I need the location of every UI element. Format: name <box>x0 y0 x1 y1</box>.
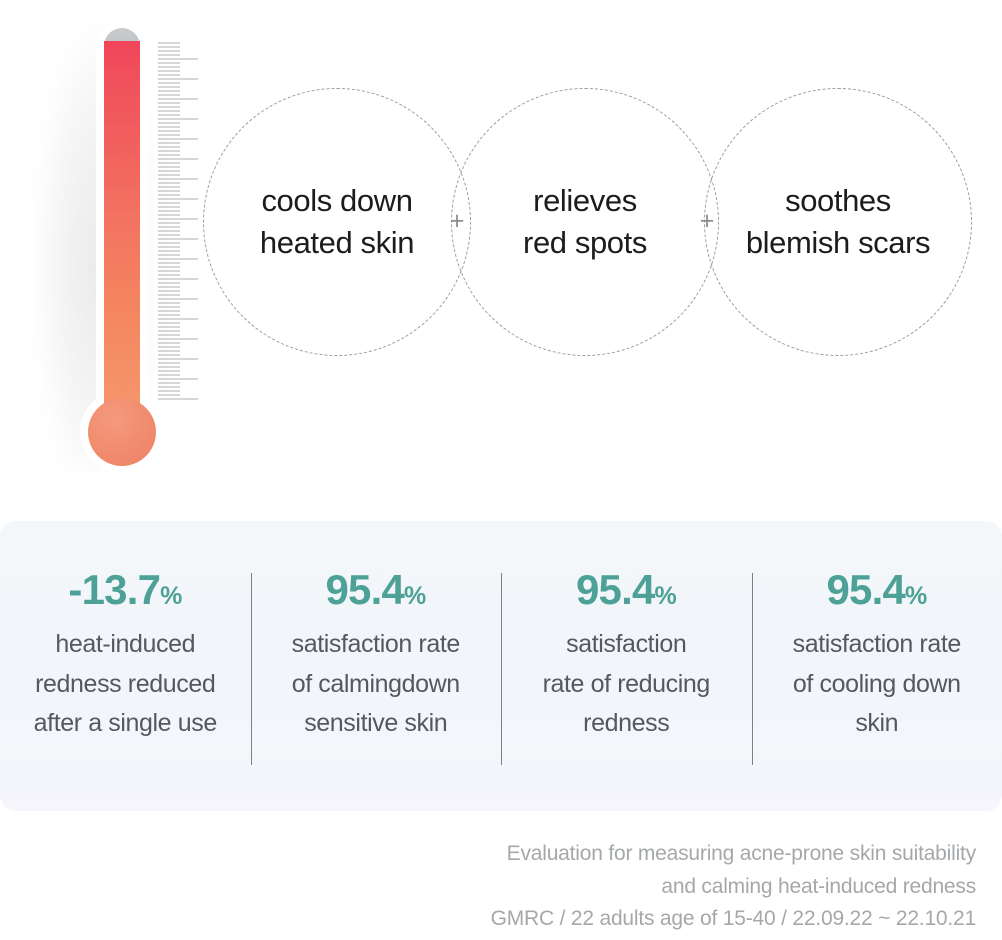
benefit-circle-relieves: relieves red spots <box>451 88 719 356</box>
benefit-circles-group: cools down heated skin relieves red spot… <box>0 78 1002 370</box>
stat-value: 95.4% <box>762 569 993 611</box>
plus-icon: + <box>692 206 722 236</box>
benefit-circle-label: soothes blemish scars <box>746 180 930 264</box>
stat-value: 95.4% <box>511 569 742 611</box>
benefit-circle-label: cools down heated skin <box>260 180 414 264</box>
statistics-panel: -13.7% heat-induced redness reduced afte… <box>0 521 1002 811</box>
stat-number: -13.7 <box>68 566 160 613</box>
stat-item-calming-down-sensitive-skin: 95.4% satisfaction rate of calmingdown s… <box>251 569 502 744</box>
stat-unit: % <box>655 582 677 610</box>
stat-value: 95.4% <box>261 569 492 611</box>
stat-number: 95.4 <box>326 566 405 613</box>
stat-number: 95.4 <box>827 566 906 613</box>
study-footnote: Evaluation for measuring acne-prone skin… <box>0 838 1002 936</box>
stat-label: satisfaction rate of reducing redness <box>511 625 742 744</box>
stat-item-cooling-down-skin: 95.4% satisfaction rate of cooling down … <box>752 569 1002 744</box>
thermometer-mercury-bulb <box>88 398 156 466</box>
stat-unit: % <box>160 582 182 610</box>
stat-label: satisfaction rate of calmingdown sensiti… <box>261 625 492 744</box>
stat-label: satisfaction rate of cooling down skin <box>762 625 993 744</box>
stat-unit: % <box>905 582 927 610</box>
stat-value: -13.7% <box>10 569 241 611</box>
benefit-circle-label: relieves red spots <box>523 180 647 264</box>
benefit-circle-soothes: soothes blemish scars <box>704 88 972 356</box>
stat-item-reducing-redness: 95.4% satisfaction rate of reducing redn… <box>501 569 752 744</box>
stat-label: heat-induced redness reduced after a sin… <box>10 625 241 744</box>
benefit-circle-cools-down: cools down heated skin <box>203 88 471 356</box>
infographic-page: cools down heated skin relieves red spot… <box>0 0 1002 940</box>
stat-number: 95.4 <box>576 566 655 613</box>
stat-item-heat-induced-redness: -13.7% heat-induced redness reduced afte… <box>0 569 251 744</box>
stat-unit: % <box>404 582 426 610</box>
statistics-row: -13.7% heat-induced redness reduced afte… <box>0 521 1002 744</box>
plus-icon: + <box>442 206 472 236</box>
